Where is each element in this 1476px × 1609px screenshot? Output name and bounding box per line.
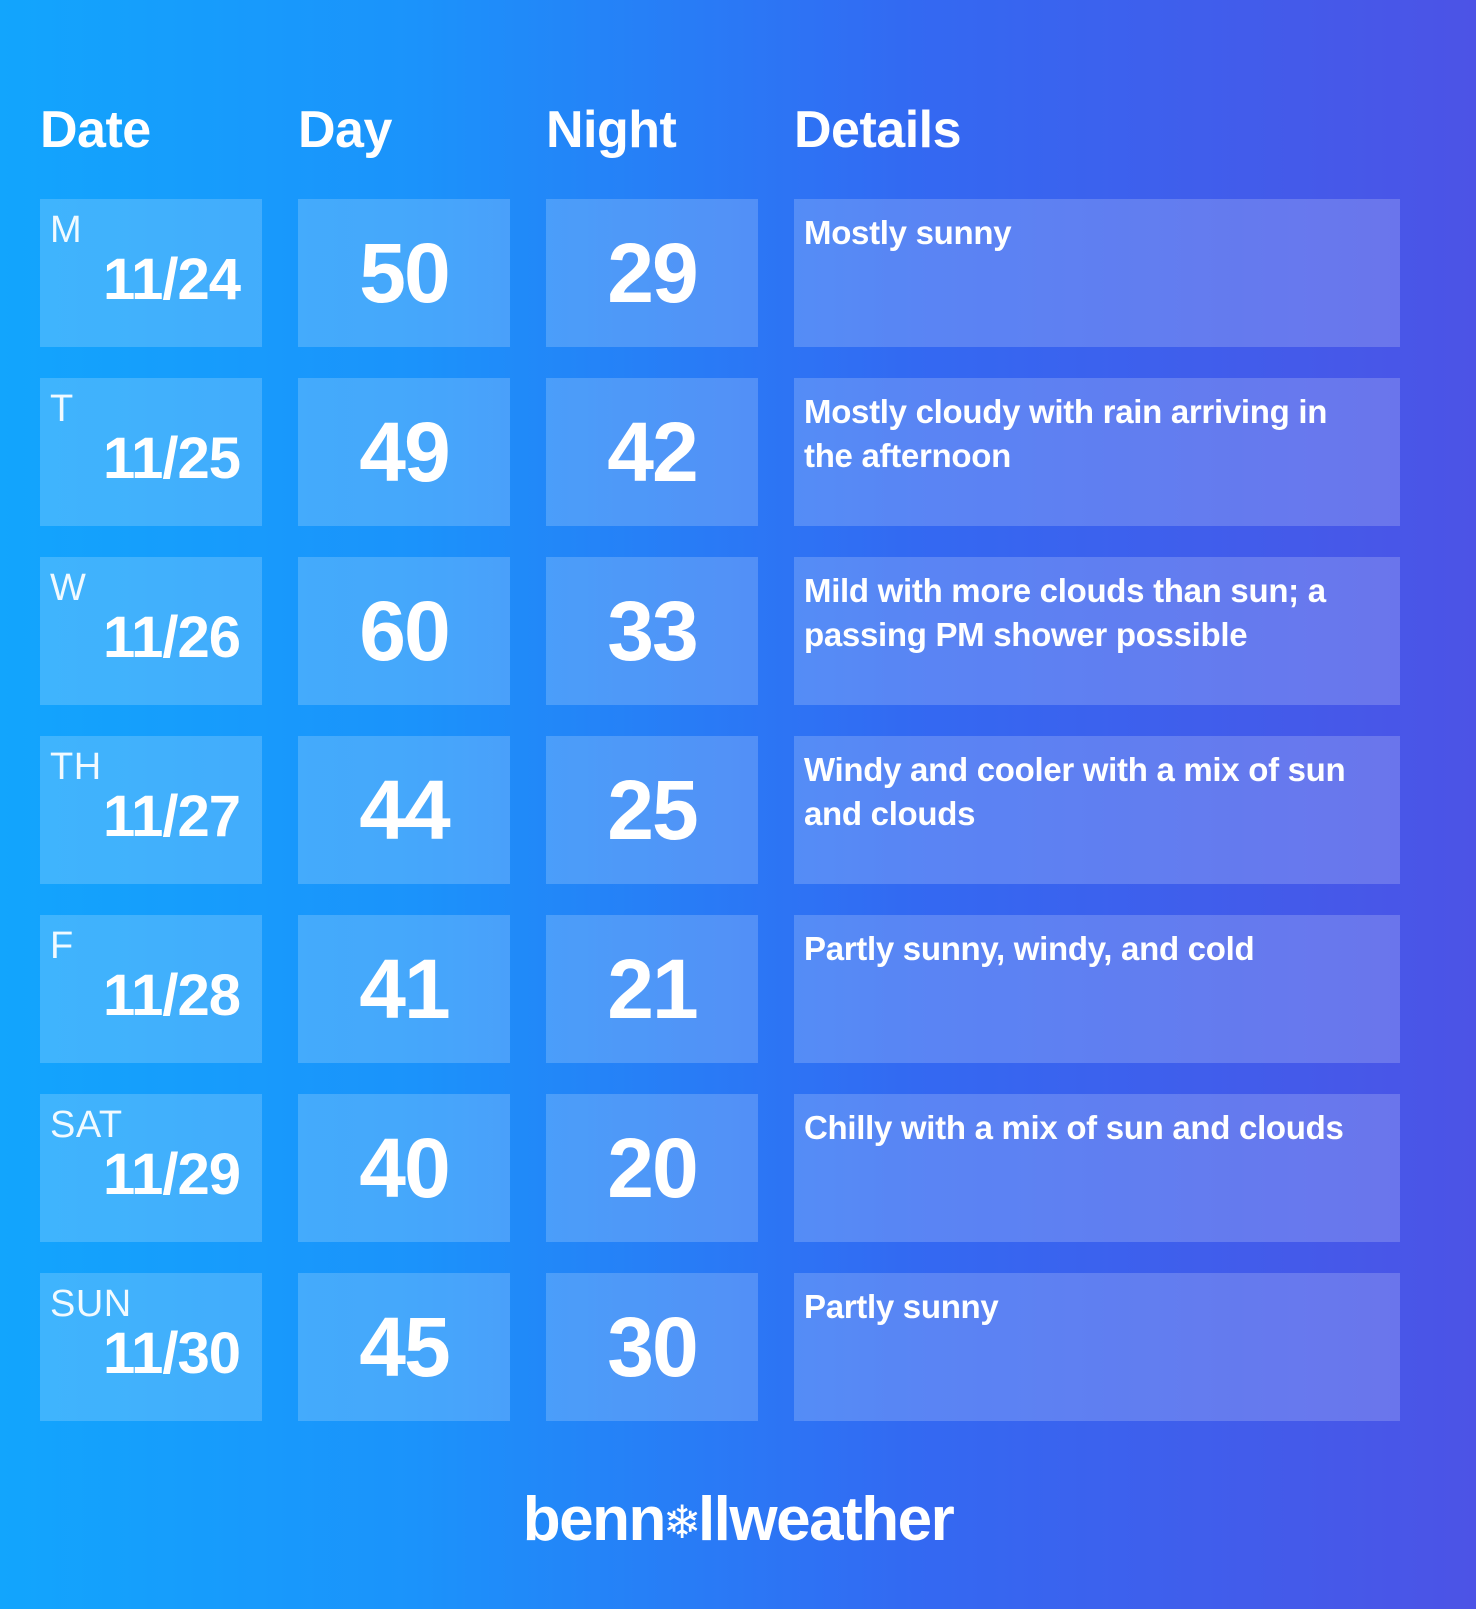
date-value: 11/26 (50, 608, 244, 669)
night-temp-cell: 20 (546, 1094, 758, 1242)
day-of-week-label: SAT (50, 1108, 244, 1143)
column-header-details: Details (794, 104, 1400, 156)
cell-gap (510, 378, 546, 526)
details-cell: Chilly with a mix of sun and clouds (794, 1094, 1400, 1242)
cell-gap (262, 378, 298, 526)
day-temp-value: 44 (359, 768, 448, 852)
cell-gap (758, 378, 794, 526)
table-row: W 11/26 60 33 Mild with more clouds than… (40, 557, 1400, 705)
date-value: 11/28 (50, 966, 244, 1027)
details-cell: Mild with more clouds than sun; a passin… (794, 557, 1400, 705)
cell-gap (510, 1094, 546, 1242)
details-cell: Partly sunny (794, 1273, 1400, 1421)
day-temp-cell: 44 (298, 736, 510, 884)
date-value: 11/27 (50, 787, 244, 848)
details-text: Mild with more clouds than sun; a passin… (804, 569, 1384, 657)
day-temp-cell: 40 (298, 1094, 510, 1242)
night-temp-cell: 21 (546, 915, 758, 1063)
brand-logo: benn ❄ llweather (523, 1489, 953, 1551)
date-cell: T 11/25 (40, 378, 262, 526)
table-row: T 11/25 49 42 Mostly cloudy with rain ar… (40, 378, 1400, 526)
date-value: 11/29 (50, 1145, 244, 1206)
cell-gap (510, 199, 546, 347)
weather-forecast-card: Date Day Night Details M 11/24 50 29 Mos… (0, 0, 1476, 1609)
cell-gap (262, 199, 298, 347)
table-row: SUN 11/30 45 30 Partly sunny (40, 1273, 1400, 1421)
date-value: 11/25 (50, 429, 244, 490)
date-cell: M 11/24 (40, 199, 262, 347)
day-of-week-label: T (50, 392, 244, 427)
day-temp-value: 49 (359, 410, 448, 494)
day-temp-cell: 45 (298, 1273, 510, 1421)
cell-gap (262, 1273, 298, 1421)
table-header-row: Date Day Night Details (40, 104, 1400, 180)
day-temp-value: 41 (359, 947, 448, 1031)
details-cell: Mostly sunny (794, 199, 1400, 347)
cell-gap (262, 1094, 298, 1242)
brand-logo-text-left: benn (523, 1489, 665, 1551)
night-temp-value: 29 (607, 231, 696, 315)
night-temp-cell: 30 (546, 1273, 758, 1421)
table-row: TH 11/27 44 25 Windy and cooler with a m… (40, 736, 1400, 884)
date-cell: W 11/26 (40, 557, 262, 705)
night-temp-value: 20 (607, 1126, 696, 1210)
day-temp-value: 60 (359, 589, 448, 673)
cell-gap (510, 736, 546, 884)
cell-gap (262, 557, 298, 705)
day-of-week-label: W (50, 571, 244, 606)
day-of-week-label: M (50, 213, 244, 248)
cell-gap (510, 1273, 546, 1421)
night-temp-value: 21 (607, 947, 696, 1031)
night-temp-cell: 29 (546, 199, 758, 347)
details-cell: Partly sunny, windy, and cold (794, 915, 1400, 1063)
day-temp-cell: 49 (298, 378, 510, 526)
details-text: Chilly with a mix of sun and clouds (804, 1106, 1344, 1150)
night-temp-value: 42 (607, 410, 696, 494)
day-temp-cell: 41 (298, 915, 510, 1063)
date-cell: SAT 11/29 (40, 1094, 262, 1242)
day-temp-cell: 60 (298, 557, 510, 705)
cell-gap (758, 199, 794, 347)
column-header-date: Date (40, 104, 298, 156)
cell-gap (510, 557, 546, 705)
footer: benn ❄ llweather (0, 1489, 1476, 1551)
night-temp-value: 30 (607, 1305, 696, 1389)
day-temp-value: 50 (359, 231, 448, 315)
details-text: Windy and cooler with a mix of sun and c… (804, 748, 1384, 836)
night-temp-cell: 42 (546, 378, 758, 526)
cell-gap (262, 736, 298, 884)
date-cell: F 11/28 (40, 915, 262, 1063)
cell-gap (262, 915, 298, 1063)
column-header-night: Night (546, 104, 794, 156)
day-of-week-label: TH (50, 750, 244, 785)
cell-gap (758, 915, 794, 1063)
date-cell: TH 11/27 (40, 736, 262, 884)
day-of-week-label: F (50, 929, 244, 964)
night-temp-value: 25 (607, 768, 696, 852)
table-row: M 11/24 50 29 Mostly sunny (40, 199, 1400, 347)
cell-gap (758, 557, 794, 705)
details-cell: Windy and cooler with a mix of sun and c… (794, 736, 1400, 884)
details-text: Mostly cloudy with rain arriving in the … (804, 390, 1384, 478)
day-temp-value: 40 (359, 1126, 448, 1210)
day-temp-value: 45 (359, 1305, 448, 1389)
snowflake-icon: ❄ (663, 1499, 700, 1545)
cell-gap (510, 915, 546, 1063)
table-row: SAT 11/29 40 20 Chilly with a mix of sun… (40, 1094, 1400, 1242)
brand-logo-text-right: llweather (698, 1489, 953, 1551)
night-temp-value: 33 (607, 589, 696, 673)
cell-gap (758, 1094, 794, 1242)
details-text: Mostly sunny (804, 211, 1011, 255)
date-value: 11/30 (50, 1324, 244, 1385)
details-cell: Mostly cloudy with rain arriving in the … (794, 378, 1400, 526)
date-cell: SUN 11/30 (40, 1273, 262, 1421)
table-row: F 11/28 41 21 Partly sunny, windy, and c… (40, 915, 1400, 1063)
night-temp-cell: 33 (546, 557, 758, 705)
day-temp-cell: 50 (298, 199, 510, 347)
details-text: Partly sunny (804, 1285, 998, 1329)
cell-gap (758, 736, 794, 884)
day-of-week-label: SUN (50, 1287, 244, 1322)
column-header-day: Day (298, 104, 546, 156)
cell-gap (758, 1273, 794, 1421)
forecast-rows: M 11/24 50 29 Mostly sunny T 11/25 (40, 199, 1400, 1421)
details-text: Partly sunny, windy, and cold (804, 927, 1254, 971)
date-value: 11/24 (50, 250, 244, 311)
night-temp-cell: 25 (546, 736, 758, 884)
